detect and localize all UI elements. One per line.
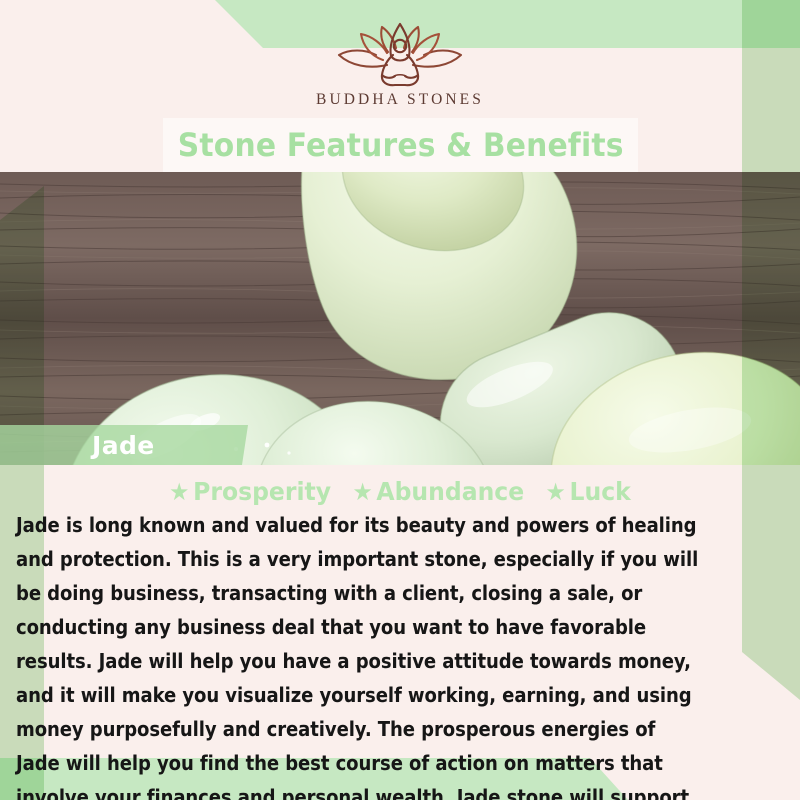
lotus-meditation-figure-icon (325, 22, 475, 88)
benefit-label: Prosperity (193, 477, 331, 506)
benefit-item-prosperity: ★Prosperity (169, 477, 331, 506)
stone-description: Jade is long known and valued for its be… (16, 508, 699, 800)
benefit-label: Luck (570, 477, 631, 506)
star-icon: ★ (546, 478, 566, 506)
page-title: Stone Features & Benefits (178, 126, 624, 164)
title-band: Stone Features & Benefits (163, 118, 638, 172)
stone-info-poster: BUDDHA STONES Stone Features & Benefits (0, 0, 800, 800)
brand-name: BUDDHA STONES (316, 91, 484, 109)
benefits-row: ★Prosperity ★Abundance ★Luck (24, 477, 776, 506)
brand-logo: BUDDHA STONES (0, 22, 800, 118)
stone-photo (0, 172, 800, 465)
benefit-label: Abundance (376, 477, 524, 506)
stone-name-band: Jade (0, 425, 248, 465)
star-icon: ★ (352, 478, 372, 506)
benefit-item-abundance: ★Abundance (352, 477, 524, 506)
stone-photo-image (0, 172, 800, 465)
benefit-item-luck: ★Luck (546, 477, 631, 506)
stone-name-label: Jade (92, 431, 155, 460)
star-icon: ★ (169, 478, 189, 506)
